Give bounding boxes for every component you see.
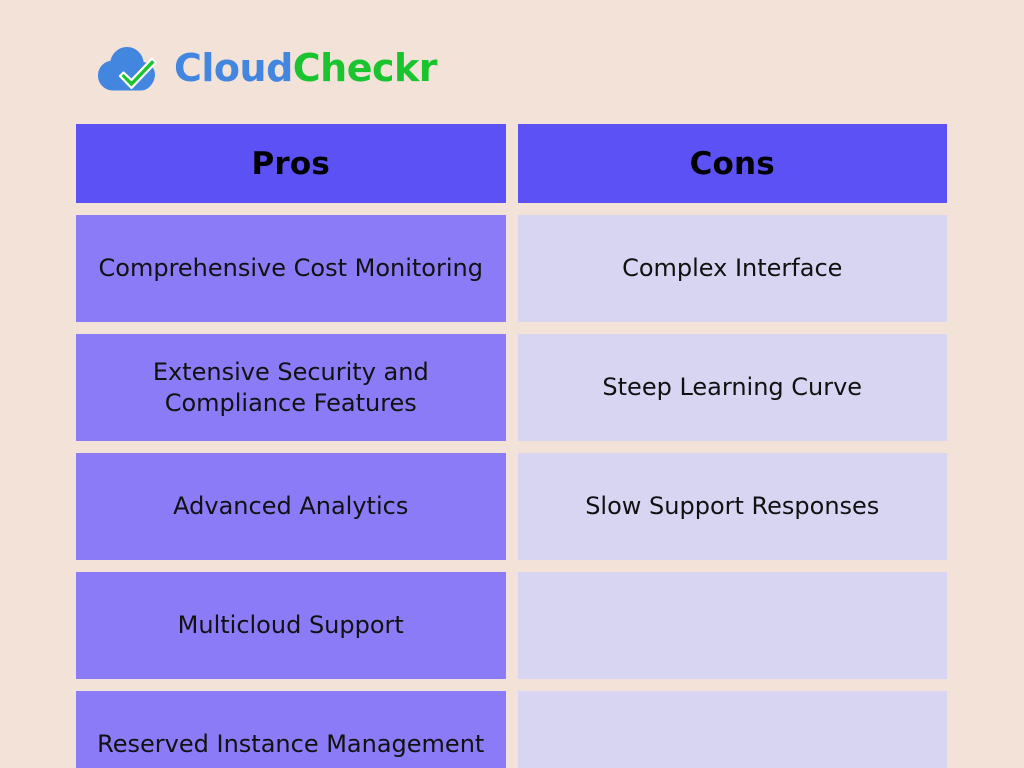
pros-cell: Reserved Instance Management — [76, 691, 506, 768]
pros-cell: Multicloud Support — [76, 572, 506, 679]
cloud-check-icon — [96, 42, 170, 94]
cons-cell: Complex Interface — [518, 215, 948, 322]
cons-cell-empty — [518, 572, 948, 679]
cons-cell-label: Complex Interface — [622, 253, 842, 284]
cons-column-header: Cons — [518, 124, 948, 203]
pros-cell: Extensive Security and Compliance Featur… — [76, 334, 506, 441]
cons-cell-label: Steep Learning Curve — [602, 372, 862, 403]
pros-cell-label: Extensive Security and Compliance Featur… — [94, 357, 488, 418]
brand-wordmark-cloud: Cloud — [174, 49, 293, 87]
pros-cell-label: Reserved Instance Management — [97, 729, 484, 760]
brand-wordmark: CloudCheckr — [174, 49, 437, 87]
pros-cons-table: Pros Comprehensive Cost Monitoring Exten… — [76, 124, 947, 768]
cons-column: Cons Complex Interface Steep Learning Cu… — [518, 124, 948, 768]
brand-logo: CloudCheckr — [96, 40, 437, 96]
pros-cell: Advanced Analytics — [76, 453, 506, 560]
cons-cell-empty — [518, 691, 948, 768]
pros-cell-label: Multicloud Support — [178, 610, 404, 641]
cons-cell: Slow Support Responses — [518, 453, 948, 560]
brand-wordmark-checkr: Checkr — [293, 49, 437, 87]
pros-cell: Comprehensive Cost Monitoring — [76, 215, 506, 322]
cons-cell-label: Slow Support Responses — [585, 491, 879, 522]
cons-cell: Steep Learning Curve — [518, 334, 948, 441]
pros-column-header: Pros — [76, 124, 506, 203]
pros-column: Pros Comprehensive Cost Monitoring Exten… — [76, 124, 506, 768]
pros-cell-label: Advanced Analytics — [173, 491, 408, 522]
pros-cell-label: Comprehensive Cost Monitoring — [99, 253, 483, 284]
